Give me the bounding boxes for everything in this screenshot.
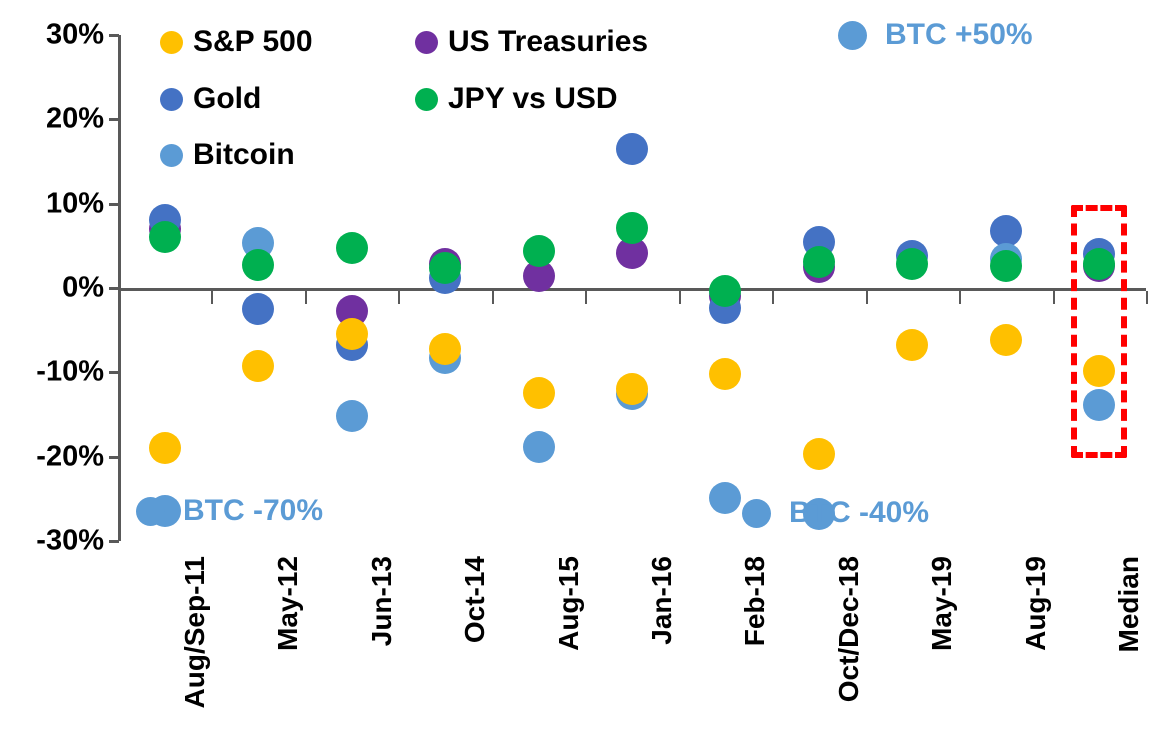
x-tick-mark bbox=[866, 291, 868, 304]
x-tick-label: Jun-13 bbox=[366, 556, 398, 646]
data-point bbox=[336, 232, 368, 264]
annotation-label-btc-minus-40: BTC -40% bbox=[789, 496, 929, 530]
y-tick-label: -20% bbox=[4, 442, 104, 471]
y-tick-label: -10% bbox=[4, 358, 104, 387]
x-tick-mark bbox=[1146, 291, 1148, 304]
data-point bbox=[149, 221, 181, 253]
legend-swatch-jpy-vs-usd bbox=[415, 88, 438, 111]
x-tick-mark bbox=[492, 291, 494, 304]
btc-minus-40-dot-icon bbox=[742, 499, 771, 528]
x-tick-mark bbox=[1053, 291, 1055, 304]
x-tick-mark bbox=[679, 291, 681, 304]
y-tick-mark bbox=[109, 118, 119, 121]
data-point bbox=[803, 438, 835, 470]
median-highlight-box bbox=[1071, 205, 1127, 458]
data-point bbox=[709, 482, 741, 514]
x-tick-mark bbox=[772, 291, 774, 304]
data-point bbox=[523, 431, 555, 463]
data-point bbox=[242, 293, 274, 325]
x-tick-mark bbox=[585, 291, 587, 304]
y-tick-mark bbox=[109, 456, 119, 459]
data-point bbox=[709, 358, 741, 390]
data-point bbox=[616, 373, 648, 405]
x-tick-mark bbox=[211, 291, 213, 304]
legend-item-bitcoin[interactable]: Bitcoin bbox=[160, 138, 295, 172]
legend-label-gold: Gold bbox=[193, 82, 261, 116]
data-point bbox=[616, 133, 648, 165]
legend-item-us-treasuries[interactable]: US Treasuries bbox=[415, 25, 648, 59]
annotation-label-btc-plus-50: BTC +50% bbox=[885, 18, 1033, 52]
annotation-btc-plus-50: BTC +50% bbox=[838, 18, 1033, 52]
x-tick-label: May-19 bbox=[926, 556, 958, 651]
data-point bbox=[896, 329, 928, 361]
legend-swatch-us-treasuries bbox=[415, 31, 438, 54]
x-tick-label: Oct/Dec-18 bbox=[833, 556, 865, 702]
x-tick-label: Oct-14 bbox=[459, 556, 491, 643]
legend-label-jpy-vs-usd: JPY vs USD bbox=[448, 82, 618, 116]
data-point bbox=[242, 350, 274, 382]
legend-label-us-treasuries: US Treasuries bbox=[448, 25, 648, 59]
x-tick-label: May-12 bbox=[272, 556, 304, 651]
data-point bbox=[803, 246, 835, 278]
y-tick-mark bbox=[109, 34, 119, 37]
y-tick-mark bbox=[109, 540, 119, 543]
data-point bbox=[149, 432, 181, 464]
x-tick-mark bbox=[959, 291, 961, 304]
data-point bbox=[990, 215, 1022, 247]
y-tick-label: 30% bbox=[4, 21, 104, 50]
annotation-btc-minus-70: BTC -70% bbox=[136, 494, 323, 528]
x-tick-label: Median bbox=[1113, 556, 1145, 652]
btc-plus-50-dot-icon bbox=[838, 21, 867, 50]
y-tick-mark bbox=[109, 371, 119, 374]
x-tick-mark bbox=[305, 291, 307, 304]
data-point bbox=[429, 252, 461, 284]
x-tick-label: Aug/Sep-11 bbox=[179, 556, 211, 708]
legend-item-gold[interactable]: Gold bbox=[160, 82, 261, 116]
annotation-btc-minus-40: BTC -40% bbox=[742, 496, 929, 530]
data-point bbox=[990, 324, 1022, 356]
x-tick-label: Feb-18 bbox=[739, 556, 771, 646]
data-point bbox=[990, 250, 1022, 282]
legend-label-sp500: S&P 500 bbox=[193, 25, 313, 59]
x-tick-mark bbox=[398, 291, 400, 304]
data-point bbox=[709, 275, 741, 307]
legend-swatch-gold bbox=[160, 88, 183, 111]
legend-swatch-sp500 bbox=[160, 31, 183, 54]
btc-minus-70-dot-icon bbox=[136, 497, 165, 526]
data-point bbox=[336, 318, 368, 350]
data-point bbox=[523, 235, 555, 267]
legend-label-bitcoin: Bitcoin bbox=[193, 138, 295, 172]
y-axis-labels: 30%20%10%0%-10%-20%-30% bbox=[0, 0, 104, 739]
x-tick-label: Aug-15 bbox=[553, 556, 585, 651]
annotation-label-btc-minus-70: BTC -70% bbox=[183, 494, 323, 528]
data-point bbox=[616, 212, 648, 244]
x-tick-label: Jan-16 bbox=[646, 556, 678, 645]
y-tick-label: 0% bbox=[4, 274, 104, 303]
data-point bbox=[896, 248, 928, 280]
legend-item-jpy-vs-usd[interactable]: JPY vs USD bbox=[415, 82, 618, 116]
data-point bbox=[523, 377, 555, 409]
data-point bbox=[429, 333, 461, 365]
chart-canvas: 30%20%10%0%-10%-20%-30% Aug/Sep-11May-12… bbox=[0, 0, 1151, 739]
y-tick-mark bbox=[109, 203, 119, 206]
y-tick-label: 20% bbox=[4, 105, 104, 134]
data-point bbox=[242, 249, 274, 281]
legend-item-sp500[interactable]: S&P 500 bbox=[160, 25, 313, 59]
y-tick-label: -30% bbox=[4, 527, 104, 556]
legend-swatch-bitcoin bbox=[160, 144, 183, 167]
plot-area bbox=[118, 20, 1146, 556]
y-tick-mark bbox=[109, 287, 119, 290]
x-tick-label: Aug-19 bbox=[1020, 556, 1052, 651]
y-tick-label: 10% bbox=[4, 189, 104, 218]
data-point bbox=[336, 400, 368, 432]
